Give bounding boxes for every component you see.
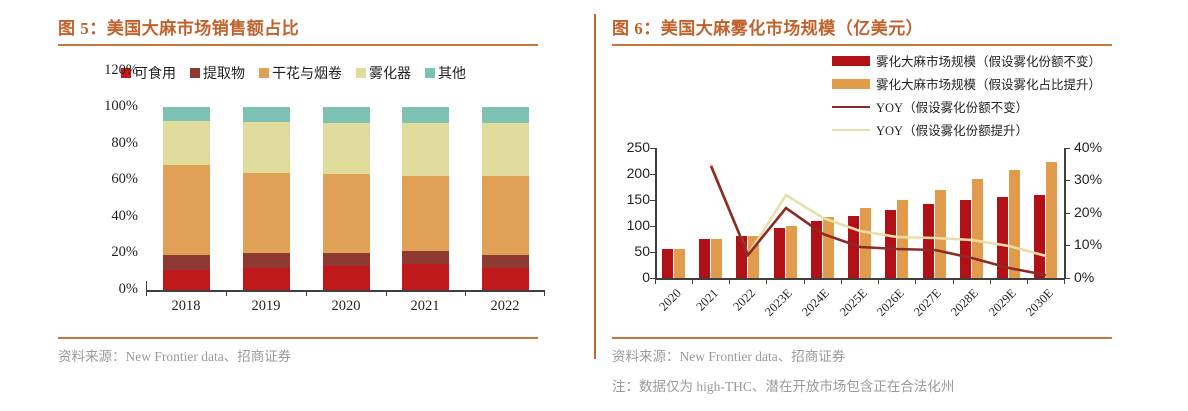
figure-6-note: 注：数据仅为 high-THC、潜在开放市场包含正在合法化州	[612, 375, 954, 395]
figure-6-panel: 图 6：美国大麻雾化市场规模（亿美元） 雾化大麻市场规模（假设雾化份额不变） 雾…	[594, 0, 1188, 411]
x-label-2020: 2020	[316, 298, 376, 315]
figure-6-footer-rule	[612, 337, 1112, 339]
segment-vape-2021	[402, 123, 449, 176]
x-tick-4	[465, 291, 466, 296]
figure-6-source: 资料来源：New Frontier data、招商证券	[612, 345, 845, 365]
y-tick-120: 120%	[78, 62, 138, 79]
segment-vape-2020	[323, 123, 370, 174]
segment-extract-2021	[402, 251, 449, 264]
report-figures-page: 图 5：美国大麻市场销售额占比 可食用 提取物 干花与烟卷 雾化器	[0, 0, 1188, 411]
segment-vape-2018	[163, 121, 210, 165]
y-tick-80: 80%	[78, 135, 138, 152]
yoy-lines-svg	[594, 0, 1188, 330]
segment-other-2019	[243, 107, 290, 122]
segment-vape-2022	[482, 123, 529, 176]
figure-6-plot: 250 200 150 100 50 0 40% 30% 20% 10% 0%	[594, 0, 1188, 330]
segment-edible-2019	[243, 268, 290, 290]
segment-other-2021	[402, 107, 449, 123]
x-tick-0	[146, 291, 147, 296]
segment-extract-2018	[163, 255, 210, 270]
figure-5-plot: 120% 100% 80% 60% 40% 20% 0%	[0, 0, 594, 320]
y-tick-20: 20%	[78, 244, 138, 261]
y-tick-40: 40%	[78, 208, 138, 225]
segment-flower-2018	[163, 165, 210, 255]
x-label-2022: 2022	[475, 298, 535, 315]
y-tick-0: 0%	[78, 281, 138, 298]
segment-other-2020	[323, 107, 370, 123]
segment-extract-2019	[243, 253, 290, 268]
segment-vape-2019	[243, 122, 290, 173]
x-tick-5	[544, 291, 545, 296]
figure-5-panel: 图 5：美国大麻市场销售额占比 可食用 提取物 干花与烟卷 雾化器	[0, 0, 594, 411]
x-tick-3	[386, 291, 387, 296]
figure-5-footer-rule	[58, 337, 538, 339]
segment-edible-2018	[163, 270, 210, 290]
segment-other-2022	[482, 107, 529, 123]
yoy-const-line	[711, 166, 1046, 275]
y-tick-100: 100%	[78, 98, 138, 115]
x-tick-1	[226, 291, 227, 296]
segment-edible-2020	[323, 266, 370, 290]
x-label-2021: 2021	[395, 298, 455, 315]
segment-extract-2022	[482, 255, 529, 268]
segment-extract-2020	[323, 253, 370, 266]
x-label-2018: 2018	[156, 298, 216, 315]
y-tick-60: 60%	[78, 171, 138, 188]
segment-edible-2022	[482, 268, 529, 290]
segment-other-2018	[163, 107, 210, 121]
figure-5-source: 资料来源：New Frontier data、招商证券	[58, 345, 291, 365]
x-label-2019: 2019	[236, 298, 296, 315]
x-axis-line	[146, 290, 545, 292]
segment-flower-2021	[402, 176, 449, 251]
segment-flower-2019	[243, 173, 290, 253]
x-tick-2	[306, 291, 307, 296]
segment-flower-2022	[482, 176, 529, 255]
segment-edible-2021	[402, 264, 449, 290]
yoy-rise-line	[711, 164, 1046, 256]
segment-flower-2020	[323, 174, 370, 253]
